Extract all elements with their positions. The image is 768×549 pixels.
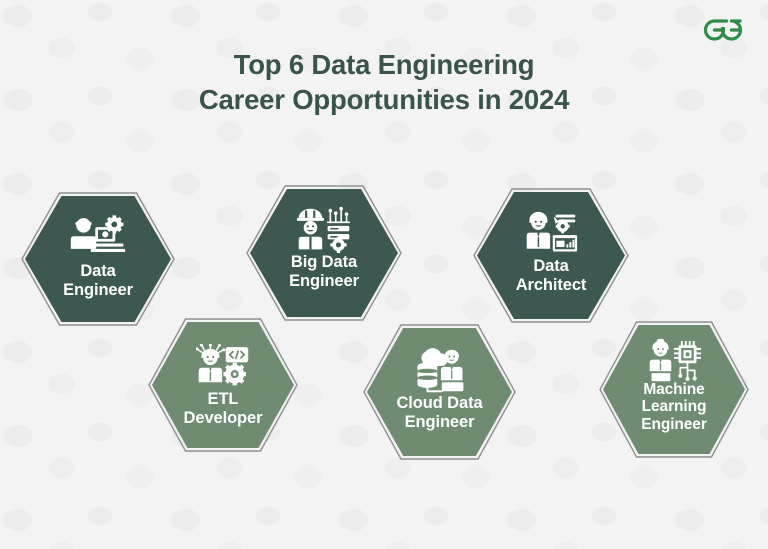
- card-ml-engineer[interactable]: Machine Learning Engineer: [603, 325, 745, 454]
- card-cloud-data-engineer[interactable]: Cloud Data Engineer: [367, 328, 512, 456]
- card-label-data-architect: Data Architect: [510, 257, 593, 295]
- page-title-line-2: Career Opportunities in 2024: [0, 83, 768, 118]
- card-data-architect[interactable]: Data Architect: [477, 192, 625, 319]
- page-title-line-1: Top 6 Data Engineering: [0, 48, 768, 83]
- person-code-gear-icon: [193, 342, 253, 390]
- card-etl-developer[interactable]: ETL Developer: [152, 322, 294, 448]
- hardhat-worker-server-icon: [294, 205, 354, 253]
- person-dashboard-icon: [521, 209, 581, 257]
- card-label-cloud-data-engineer: Cloud Data Engineer: [390, 394, 488, 432]
- geeksforgeeks-logo[interactable]: [700, 14, 746, 44]
- person-microchip-icon: [644, 339, 704, 381]
- cloud-database-person-icon: [410, 346, 470, 394]
- card-data-engineer[interactable]: Data Engineer: [25, 196, 171, 322]
- card-label-etl-developer: ETL Developer: [178, 390, 269, 428]
- card-label-ml-engineer: Machine Learning Engineer: [635, 381, 713, 433]
- card-label-data-engineer: Data Engineer: [57, 262, 139, 300]
- card-label-big-data-engineer: Big Data Engineer: [283, 253, 365, 291]
- card-big-data-engineer[interactable]: Big Data Engineer: [250, 189, 398, 317]
- infographic-canvas: Top 6 Data Engineering Career Opportunit…: [0, 0, 768, 549]
- person-with-gears-icon: [68, 214, 128, 262]
- page-title: Top 6 Data Engineering Career Opportunit…: [0, 48, 768, 117]
